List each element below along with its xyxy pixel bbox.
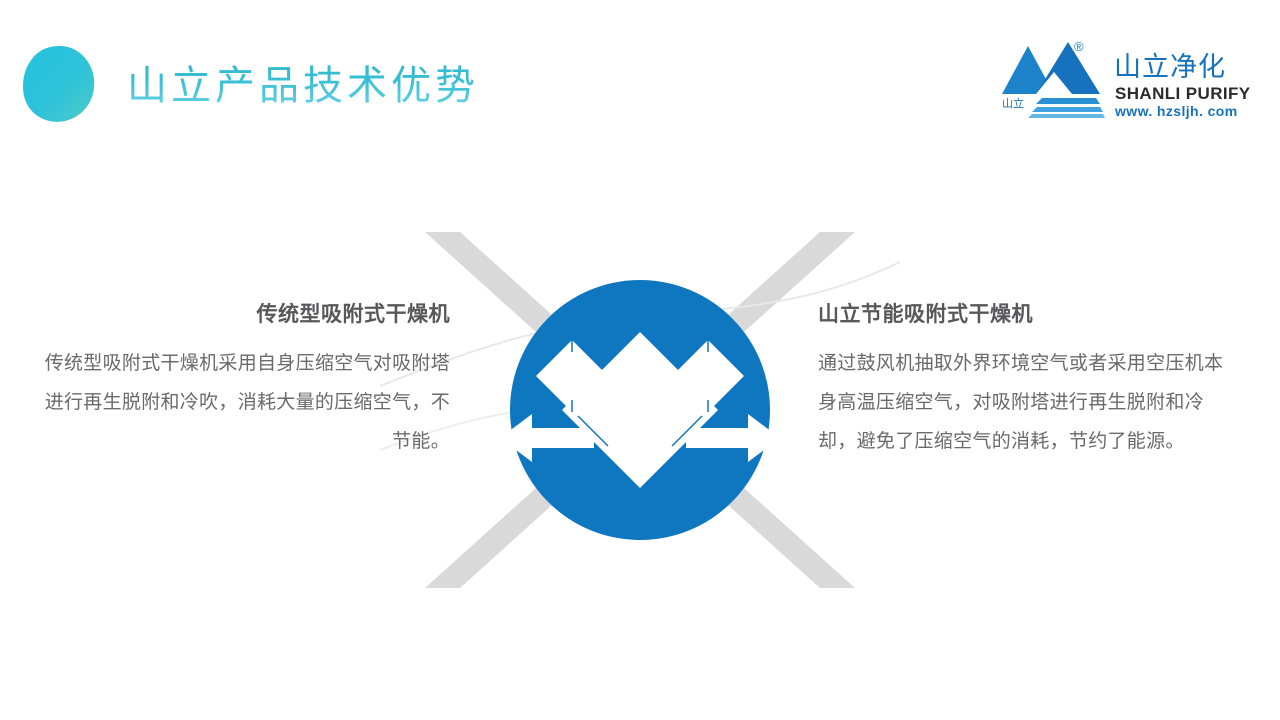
column-shanli: 山立节能吸附式干燥机 通过鼓风机抽取外界环境空气或者采用空压机本身高温压缩空气，… xyxy=(818,300,1230,461)
logo-name-en: SHANLI PURIFY xyxy=(1115,84,1251,103)
column-shanli-body: 通过鼓风机抽取外界环境空气或者采用空压机本身高温压缩空气，对吸附塔进行再生脱附和… xyxy=(818,344,1230,461)
column-traditional: 传统型吸附式干燥机 传统型吸附式干燥机采用自身压缩空气对吸附塔进行再生脱附和冷吹… xyxy=(40,300,450,461)
blob-decoration-icon xyxy=(20,44,98,124)
column-shanli-heading: 山立节能吸附式干燥机 xyxy=(818,300,1230,330)
registered-trademark-icon: ® xyxy=(1074,40,1084,53)
slide-canvas: 山立产品技术优势 ® 山立 山立净化 SHANLI PURIFY www. hz… xyxy=(0,0,1280,720)
logo-name-cn: 山立净化 xyxy=(1114,52,1226,82)
column-traditional-heading: 传统型吸附式干燥机 xyxy=(40,300,450,330)
column-traditional-body: 传统型吸附式干燥机采用自身压缩空气对吸附塔进行再生脱附和冷吹，消耗大量的压缩空气… xyxy=(40,344,450,461)
logo-mark-tag: 山立 xyxy=(1002,98,1024,110)
page-title: 山立产品技术优势 xyxy=(127,58,479,114)
logo-website: www. hzsljh. com xyxy=(1115,103,1238,119)
brand-logo: ® 山立 山立净化 SHANLI PURIFY www. hzsljh. com xyxy=(1002,38,1232,122)
